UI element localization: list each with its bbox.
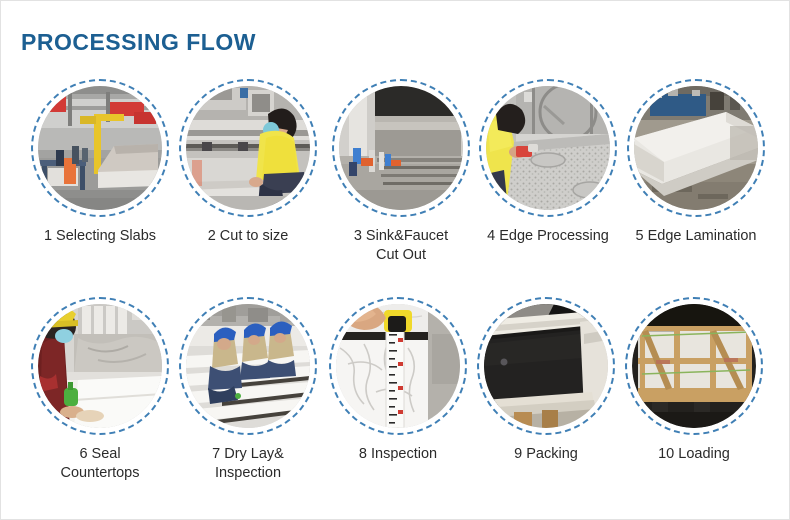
step-ring <box>31 79 169 217</box>
step-edge-processing[interactable]: 4 Edge Processing <box>473 79 623 246</box>
step-ring <box>332 79 470 217</box>
step-ring <box>479 79 617 217</box>
flow-row-1: 1 Selecting Slabs <box>1 79 790 297</box>
flow-rows: 1 Selecting Slabs <box>1 79 790 512</box>
cut-to-size-photo <box>186 86 310 210</box>
step-ring <box>329 297 467 435</box>
step-inspection[interactable]: 8 Inspection <box>323 297 473 464</box>
edge-processing-photo <box>486 86 610 210</box>
step-caption: 1 Selecting Slabs <box>44 227 156 246</box>
step-ring <box>179 79 317 217</box>
step-dry-lay-inspection[interactable]: 7 Dry Lay& Inspection <box>173 297 323 483</box>
flow-row-2: 6 Seal Countertops <box>1 297 790 512</box>
inspection-photo <box>336 304 460 428</box>
step-seal-countertops[interactable]: 6 Seal Countertops <box>25 297 175 483</box>
step-loading[interactable]: 10 Loading <box>619 297 769 464</box>
step-caption: 10 Loading <box>658 445 730 464</box>
step-selecting-slabs[interactable]: 1 Selecting Slabs <box>25 79 175 246</box>
edge-lamination-photo <box>634 86 758 210</box>
loading-photo <box>632 304 756 428</box>
step-caption: 6 Seal Countertops <box>61 445 140 483</box>
step-sink-faucet-cut-out[interactable]: 3 Sink&Faucet Cut Out <box>326 79 476 265</box>
step-cut-to-size[interactable]: 2 Cut to size <box>173 79 323 246</box>
step-ring <box>625 297 763 435</box>
sink-faucet-cut-out-photo <box>339 86 463 210</box>
step-ring <box>627 79 765 217</box>
page-title: PROCESSING FLOW <box>21 29 256 56</box>
dry-lay-inspection-photo <box>186 304 310 428</box>
step-caption: 8 Inspection <box>359 445 437 464</box>
step-ring <box>179 297 317 435</box>
step-packing[interactable]: 9 Packing <box>471 297 621 464</box>
step-ring <box>31 297 169 435</box>
processing-flow-page: PROCESSING FLOW <box>0 0 790 520</box>
packing-photo <box>484 304 608 428</box>
step-ring <box>477 297 615 435</box>
selecting-slabs-photo <box>38 86 162 210</box>
step-edge-lamination[interactable]: 5 Edge Lamination <box>621 79 771 246</box>
step-caption: 7 Dry Lay& Inspection <box>212 445 284 483</box>
step-caption: 5 Edge Lamination <box>608 227 784 246</box>
step-caption: 2 Cut to size <box>208 227 289 246</box>
seal-countertops-photo <box>38 304 162 428</box>
step-caption: 9 Packing <box>514 445 578 464</box>
